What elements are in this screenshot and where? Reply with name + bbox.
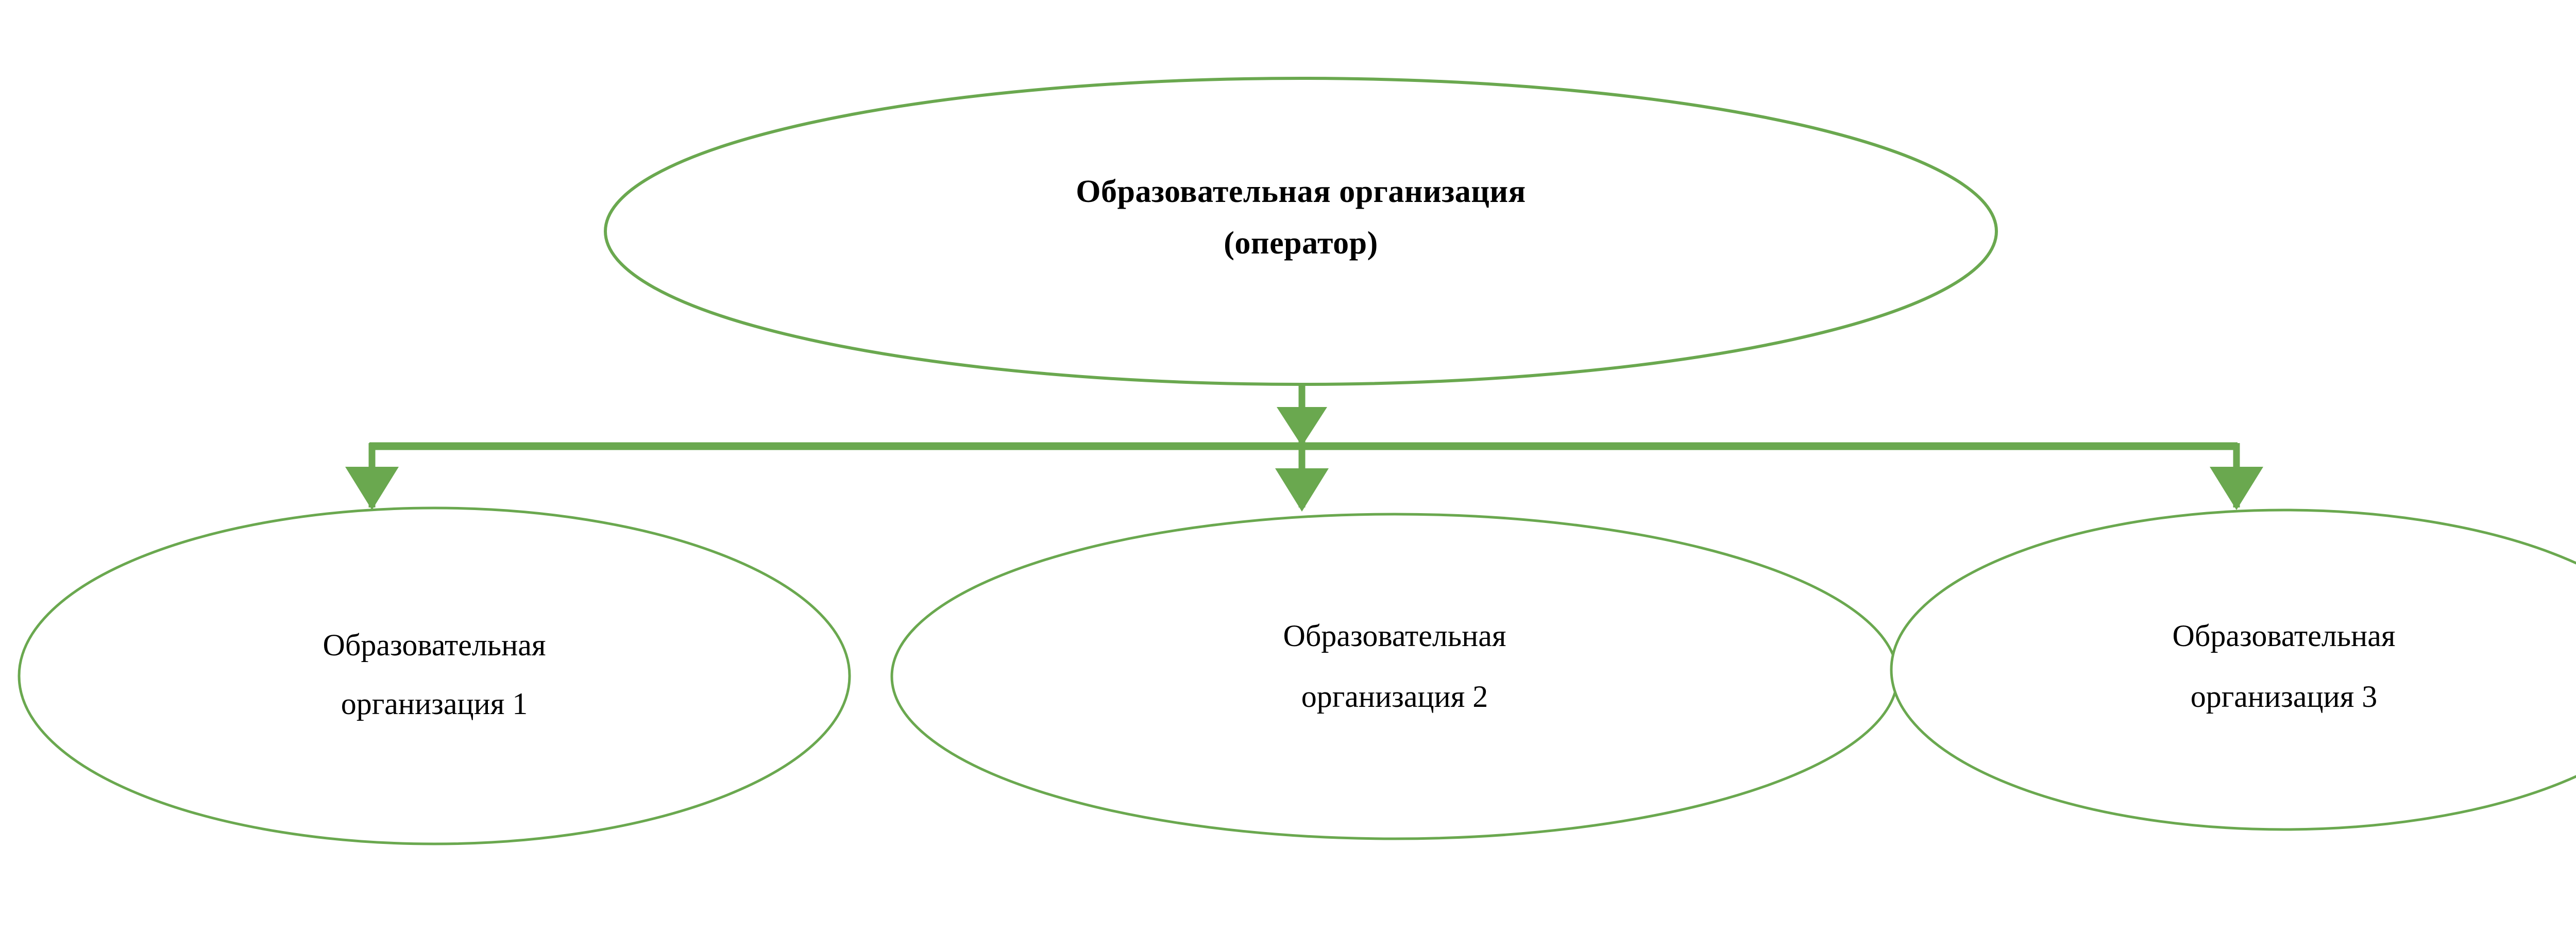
arrow-to-child-2 <box>1275 468 1329 512</box>
child-node-1-ellipse <box>19 508 850 844</box>
child-node-3[interactable]: Образовательная организация 3 <box>1891 510 2576 829</box>
child-node-2-label-line1: Образовательная <box>1283 619 1506 653</box>
root-stem-arrowhead <box>1277 407 1327 446</box>
child-node-1[interactable]: Образовательная организация 1 <box>19 508 850 844</box>
diagram-canvas: Образовательная организация (оператор) О… <box>0 0 2576 949</box>
root-node[interactable]: Образовательная организация (оператор) <box>605 78 1996 384</box>
connector-group <box>345 384 2263 512</box>
org-hierarchy-diagram: Образовательная организация (оператор) О… <box>0 0 2576 949</box>
child-node-3-label-line2: организация 3 <box>2191 680 2378 714</box>
child-node-2-ellipse <box>892 514 1897 839</box>
child-node-1-label-line2: организация 1 <box>341 687 528 721</box>
child-node-2-label-line2: организация 2 <box>1301 680 1488 714</box>
child-node-2[interactable]: Образовательная организация 2 <box>892 514 1897 839</box>
root-node-label-line2: (оператор) <box>1224 226 1378 261</box>
child-node-1-label-line1: Образовательная <box>323 628 546 662</box>
root-node-label-line1: Образовательная организация <box>1076 174 1526 209</box>
child-node-3-ellipse <box>1891 510 2576 829</box>
arrow-to-child-1 <box>345 467 399 510</box>
arrow-to-child-3 <box>2210 467 2263 510</box>
child-node-3-label-line1: Образовательная <box>2173 619 2396 653</box>
